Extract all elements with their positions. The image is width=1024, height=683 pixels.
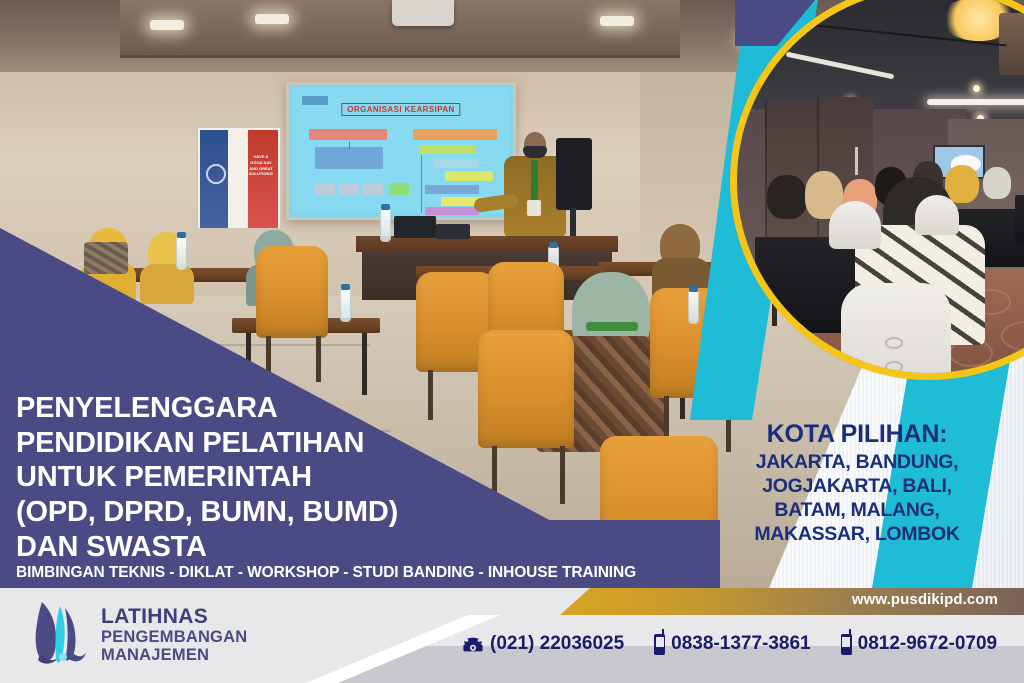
- slide-surface: ORGANISASI KEARSIPAN: [293, 89, 509, 213]
- headline-line-4: (OPD, DPRD, BUMN, BUMD): [16, 495, 576, 530]
- cities-line-3: BATAM, MALANG,: [700, 499, 1014, 523]
- slide-box: [309, 129, 387, 140]
- banner-circle-graphic: [206, 164, 226, 184]
- mobile-phone-icon: [654, 634, 665, 655]
- headline-line-3: UNTUK PEMERINTAH: [16, 460, 576, 495]
- headline-line-1: PENYELENGGARA: [16, 391, 576, 426]
- latihnas-flame-icon: [32, 600, 90, 670]
- services-subline: BIMBINGAN TEKNIS - DIKLAT - WORKSHOP - S…: [16, 564, 636, 582]
- slide-box: [425, 185, 479, 194]
- water-bottle: [176, 236, 187, 270]
- slide-box: [413, 129, 497, 140]
- contact-telephone[interactable]: (021) 22036025: [462, 633, 624, 655]
- water-bottle: [688, 290, 699, 324]
- handbag: [84, 242, 128, 274]
- inset-covered-chair: [829, 201, 881, 249]
- slide-box: [363, 183, 383, 195]
- bottle-cap: [549, 242, 558, 248]
- banner-blue-panel: [200, 130, 228, 228]
- inset-light-strip: [927, 99, 1024, 105]
- ceiling-light: [600, 16, 634, 26]
- chair: [256, 246, 328, 338]
- cities-list: JAKARTA, BANDUNG, JOGJAKARTA, BALI, BATA…: [700, 451, 1014, 547]
- inset-covered-chair: [915, 195, 959, 235]
- cities-title: KOTA PILIHAN:: [700, 420, 1014, 449]
- inset-participant: [945, 165, 979, 203]
- inset-door-handle: [855, 147, 858, 175]
- mobile-phone-icon: [841, 634, 852, 655]
- cities-line-4: MAKASSAR, LOMBOK: [700, 523, 1014, 547]
- laptop: [436, 224, 470, 239]
- inset-chair-knot: [885, 361, 903, 373]
- desk-leg: [362, 333, 367, 395]
- mobile-number-2: 0812-9672-0709: [858, 633, 997, 655]
- cities-block: KOTA PILIHAN: JAKARTA, BANDUNG, JOGJAKAR…: [700, 420, 1014, 547]
- inset-participant: [983, 167, 1011, 199]
- inset-participant: [767, 175, 807, 219]
- participant-neck-strap: [586, 322, 638, 331]
- ceiling-projector: [392, 0, 454, 26]
- slide-connector: [421, 155, 422, 213]
- bottle-cap: [341, 284, 350, 290]
- inset-chair-knot: [885, 337, 903, 349]
- water-bottle: [340, 288, 351, 322]
- inset-table: [1015, 195, 1024, 243]
- speaker-face-mask: [523, 146, 547, 158]
- ceiling-light: [255, 14, 289, 24]
- mobile-number-1: 0838-1377-3861: [671, 633, 810, 655]
- circular-photo-inset: [730, 0, 1024, 380]
- cities-line-2: JOGJAKARTA, BALI,: [700, 475, 1014, 499]
- slide-box: [425, 207, 479, 215]
- bottle-cap: [689, 286, 698, 292]
- slide-box: [445, 171, 493, 181]
- av-speaker: [556, 138, 592, 210]
- contact-mobile-1[interactable]: 0838-1377-3861: [654, 633, 810, 655]
- ceiling-light: [150, 20, 184, 30]
- contact-mobile-2[interactable]: 0812-9672-0709: [841, 633, 997, 655]
- banner-text: HAVE A GOOD DAY AND GREAT SOLUTIONS!: [248, 154, 274, 177]
- slide-box: [389, 183, 409, 195]
- logo-line-3: MANAJEMEN: [101, 646, 247, 664]
- contact-list: (021) 22036025 0838-1377-3861 0812-9672-…: [462, 633, 997, 655]
- cities-line-1: JAKARTA, BANDUNG,: [700, 451, 1014, 475]
- slide-box: [339, 183, 359, 195]
- promotional-banner: ORGANISASI KEARSIPAN: [0, 0, 1024, 683]
- slide-box: [315, 183, 335, 195]
- water-bottle: [380, 208, 391, 242]
- headline-line-5: DAN SWASTA: [16, 530, 576, 565]
- slide-logo: [302, 96, 328, 105]
- telephone-number: (021) 22036025: [490, 633, 624, 655]
- logo-line-1: LATIHNAS: [101, 606, 247, 628]
- chair-leg: [316, 336, 321, 382]
- standing-banner: HAVE A GOOD DAY AND GREAT SOLUTIONS!: [196, 126, 282, 230]
- logo-line-2: PENGEMBANGAN: [101, 628, 247, 646]
- slide-box: [433, 159, 479, 168]
- slide-title: ORGANISASI KEARSIPAN: [341, 103, 460, 116]
- inset-downlight: [973, 85, 980, 92]
- headline-line-2: PENDIDIKAN PELATIHAN: [16, 426, 576, 461]
- headline: PENYELENGGARA PENDIDIKAN PELATIHAN UNTUK…: [16, 391, 576, 564]
- bottle-cap: [381, 204, 390, 210]
- company-logo: LATIHNAS PENGEMBANGAN MANAJEMEN: [32, 600, 247, 670]
- banner-red-panel: HAVE A GOOD DAY AND GREAT SOLUTIONS!: [248, 130, 278, 228]
- laptop: [394, 216, 436, 238]
- slide-box: [315, 147, 383, 169]
- bottle-cap: [177, 232, 186, 238]
- telephone-icon: [462, 636, 484, 653]
- slide-connector: [349, 141, 350, 149]
- slide-box: [419, 145, 475, 154]
- presenter-table: [356, 236, 618, 252]
- participant-body: [140, 264, 194, 304]
- speaker-badge: [527, 200, 541, 216]
- speaker-lanyard: [531, 160, 538, 204]
- website-url[interactable]: www.pusdikipd.com: [852, 591, 998, 608]
- logo-wordmark: LATIHNAS PENGEMBANGAN MANAJEMEN: [101, 606, 247, 665]
